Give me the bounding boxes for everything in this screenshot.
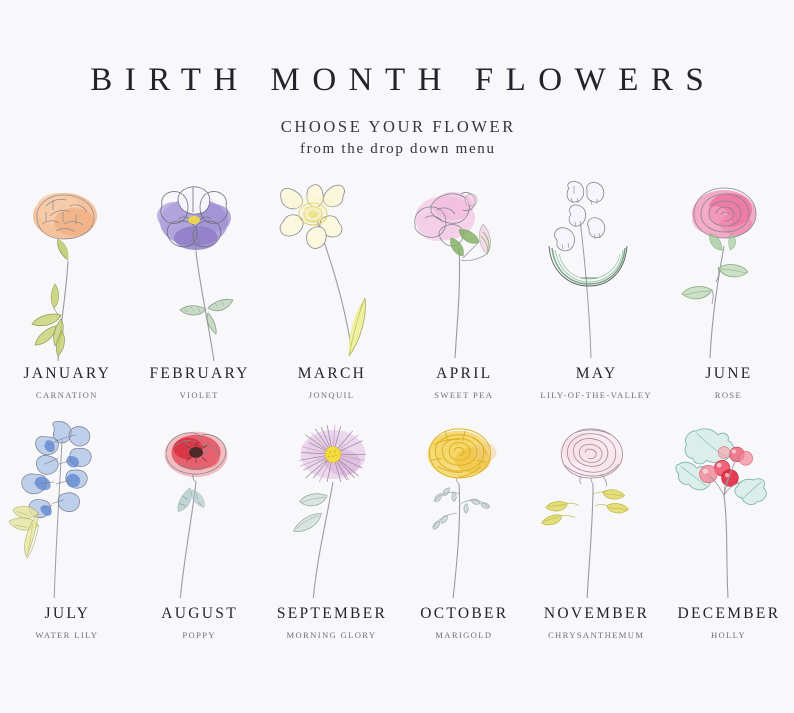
carnation-flower-icon: [6, 176, 126, 361]
flower-label-march: JONQUIL: [307, 391, 354, 400]
poster-header: BIRTH MONTH FLOWERS CHOOSE YOUR FLOWER f…: [0, 0, 794, 158]
flower-grid: JANUARY CARNATION: [0, 176, 794, 640]
month-label-december: DECEMBER: [675, 605, 780, 622]
month-label-february: FEBRUARY: [147, 365, 250, 382]
water-lily-flower-icon: [6, 419, 126, 601]
flower-label-january: CARNATION: [35, 391, 98, 400]
flower-row-second-half: JULY WATER LILY: [0, 419, 794, 641]
flower-label-september: MORNING GLORY: [285, 631, 376, 640]
flower-cell-june[interactable]: JUNE ROSE: [662, 176, 794, 401]
flower-cell-april[interactable]: APRIL SWEET PEA: [397, 176, 529, 401]
flower-cell-march[interactable]: MARCH JONQUIL: [265, 176, 397, 401]
birth-month-flowers-poster: BIRTH MONTH FLOWERS CHOOSE YOUR FLOWER f…: [0, 0, 794, 713]
flower-cell-october[interactable]: OCTOBER MARIGOLD: [397, 419, 529, 641]
flower-label-november: CHRYSANTHEMUM: [547, 631, 645, 640]
flower-label-february: VIOLET: [178, 391, 218, 400]
flower-label-july: WATER LILY: [34, 631, 98, 640]
sweet-pea-flower-icon: [403, 176, 523, 361]
flower-label-may: LILY-OF-THE-VALLEY: [539, 391, 652, 400]
violet-flower-icon: [138, 176, 258, 361]
marigold-flower-icon: [403, 419, 523, 601]
flower-label-june: ROSE: [713, 391, 742, 400]
lily-of-the-valley-flower-icon: [535, 176, 655, 361]
subtitle-line-1: CHOOSE YOUR FLOWER: [0, 118, 794, 137]
subtitle-line-2: from the drop down menu: [0, 140, 794, 158]
flower-label-august: POPPY: [181, 631, 216, 640]
month-label-may: MAY: [574, 365, 618, 382]
month-label-october: OCTOBER: [418, 605, 508, 622]
month-label-september: SEPTEMBER: [275, 605, 388, 622]
holly-flower-icon: [668, 419, 788, 601]
flower-row-first-half: JANUARY CARNATION: [0, 176, 794, 401]
flower-cell-november[interactable]: NOVEMBER CHRYSANTHEMUM: [529, 419, 661, 641]
flower-label-december: HOLLY: [710, 631, 746, 640]
flower-cell-january[interactable]: JANUARY CARNATION: [0, 176, 132, 401]
month-label-november: NOVEMBER: [542, 605, 650, 622]
month-label-june: JUNE: [703, 365, 752, 382]
month-label-july: JULY: [42, 605, 90, 622]
flower-cell-may[interactable]: MAY LILY-OF-THE-VALLEY: [529, 176, 661, 401]
jonquil-flower-icon: [271, 176, 391, 361]
flower-label-april: SWEET PEA: [433, 391, 493, 400]
page-title: BIRTH MONTH FLOWERS: [0, 62, 794, 98]
flower-cell-december[interactable]: DECEMBER HOLLY: [662, 419, 794, 641]
flower-cell-august[interactable]: AUGUST POPPY: [132, 419, 264, 641]
flower-label-october: MARIGOLD: [434, 631, 492, 640]
chrysanthemum-flower-icon: [535, 419, 655, 601]
month-label-march: MARCH: [295, 365, 366, 382]
month-label-april: APRIL: [434, 365, 493, 382]
rose-flower-icon: [668, 176, 788, 361]
flower-cell-february[interactable]: FEBRUARY VIOLET: [132, 176, 264, 401]
month-label-august: AUGUST: [159, 605, 238, 622]
poppy-flower-icon: [138, 419, 258, 601]
flower-cell-july[interactable]: JULY WATER LILY: [0, 419, 132, 641]
morning-glory-flower-icon: [271, 419, 391, 601]
month-label-january: JANUARY: [21, 365, 111, 382]
flower-cell-september[interactable]: SEPTEMBER MORNING GLORY: [265, 419, 397, 641]
